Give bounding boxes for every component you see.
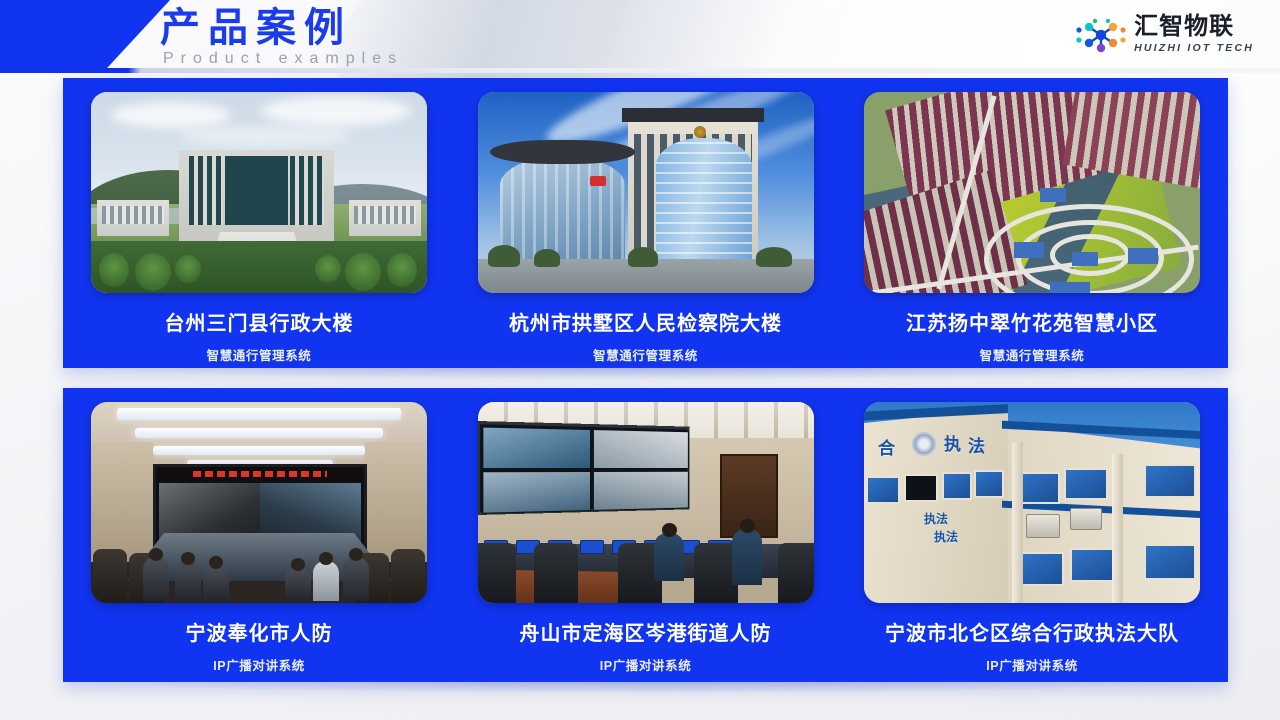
case-image-3 xyxy=(864,92,1200,293)
case-card-6[interactable]: 合 执 法 执法 执法 xyxy=(864,402,1200,682)
case-subtitle-4: IP广播对讲系统 xyxy=(213,655,305,674)
case-image-4 xyxy=(91,402,427,603)
case-image-2 xyxy=(478,92,814,293)
case-image-5 xyxy=(478,402,814,603)
case-row-2: 宁波奉化市人防 IP广播对讲系统 xyxy=(63,388,1228,682)
company-logo[interactable]: 汇智物联 HUIZHI IOT TECH xyxy=(1075,14,1254,55)
case-card-2[interactable]: 杭州市拱墅区人民检察院大楼 智慧通行管理系统 xyxy=(478,92,814,368)
case-card-5[interactable]: 舟山市定海区岑港街道人防 IP广播对讲系统 xyxy=(478,402,814,682)
case-subtitle-3: 智慧通行管理系统 xyxy=(980,345,1085,364)
case-card-4[interactable]: 宁波奉化市人防 IP广播对讲系统 xyxy=(91,402,427,682)
slide-canvas: 产品案例 Product examples xyxy=(0,0,1280,720)
page-title-en: Product examples xyxy=(163,50,403,68)
case-image-1 xyxy=(91,92,427,293)
case-row-1: 台州三门县行政大楼 智慧通行管理系统 xyxy=(63,78,1228,368)
case-subtitle-6: IP广播对讲系统 xyxy=(986,655,1078,674)
logo-name-en: HUIZHI IOT TECH xyxy=(1134,41,1254,55)
page-title-cn: 产品案例 xyxy=(160,2,403,54)
case-subtitle-1: 智慧通行管理系统 xyxy=(207,345,312,364)
case-image-6: 合 执 法 执法 执法 xyxy=(864,402,1200,603)
header-accent-shape xyxy=(0,0,170,68)
case-card-3[interactable]: 江苏扬中翠竹花苑智慧小区 智慧通行管理系统 xyxy=(864,92,1200,368)
molecule-network-icon xyxy=(1075,15,1127,55)
header-rule xyxy=(0,68,1280,73)
slide-header: 产品案例 Product examples xyxy=(0,0,1280,72)
case-title-3: 江苏扬中翠竹花苑智慧小区 xyxy=(906,307,1158,336)
case-title-4: 宁波奉化市人防 xyxy=(186,617,333,646)
case-card-1[interactable]: 台州三门县行政大楼 智慧通行管理系统 xyxy=(91,92,427,368)
page-title: 产品案例 Product examples xyxy=(160,2,403,68)
case-panel-row-1: 台州三门县行政大楼 智慧通行管理系统 xyxy=(63,78,1228,368)
case-title-5: 舟山市定海区岑港街道人防 xyxy=(520,617,772,646)
case-title-2: 杭州市拱墅区人民检察院大楼 xyxy=(509,307,782,336)
case-title-6: 宁波市北仑区综合行政执法大队 xyxy=(885,617,1179,646)
header-rule-accent xyxy=(0,68,128,73)
case-title-1: 台州三门县行政大楼 xyxy=(165,307,354,336)
logo-name-cn: 汇智物联 xyxy=(1134,14,1254,40)
case-subtitle-5: IP广播对讲系统 xyxy=(600,655,692,674)
case-panel-row-2: 宁波奉化市人防 IP广播对讲系统 xyxy=(63,388,1228,682)
case-subtitle-2: 智慧通行管理系统 xyxy=(593,345,698,364)
